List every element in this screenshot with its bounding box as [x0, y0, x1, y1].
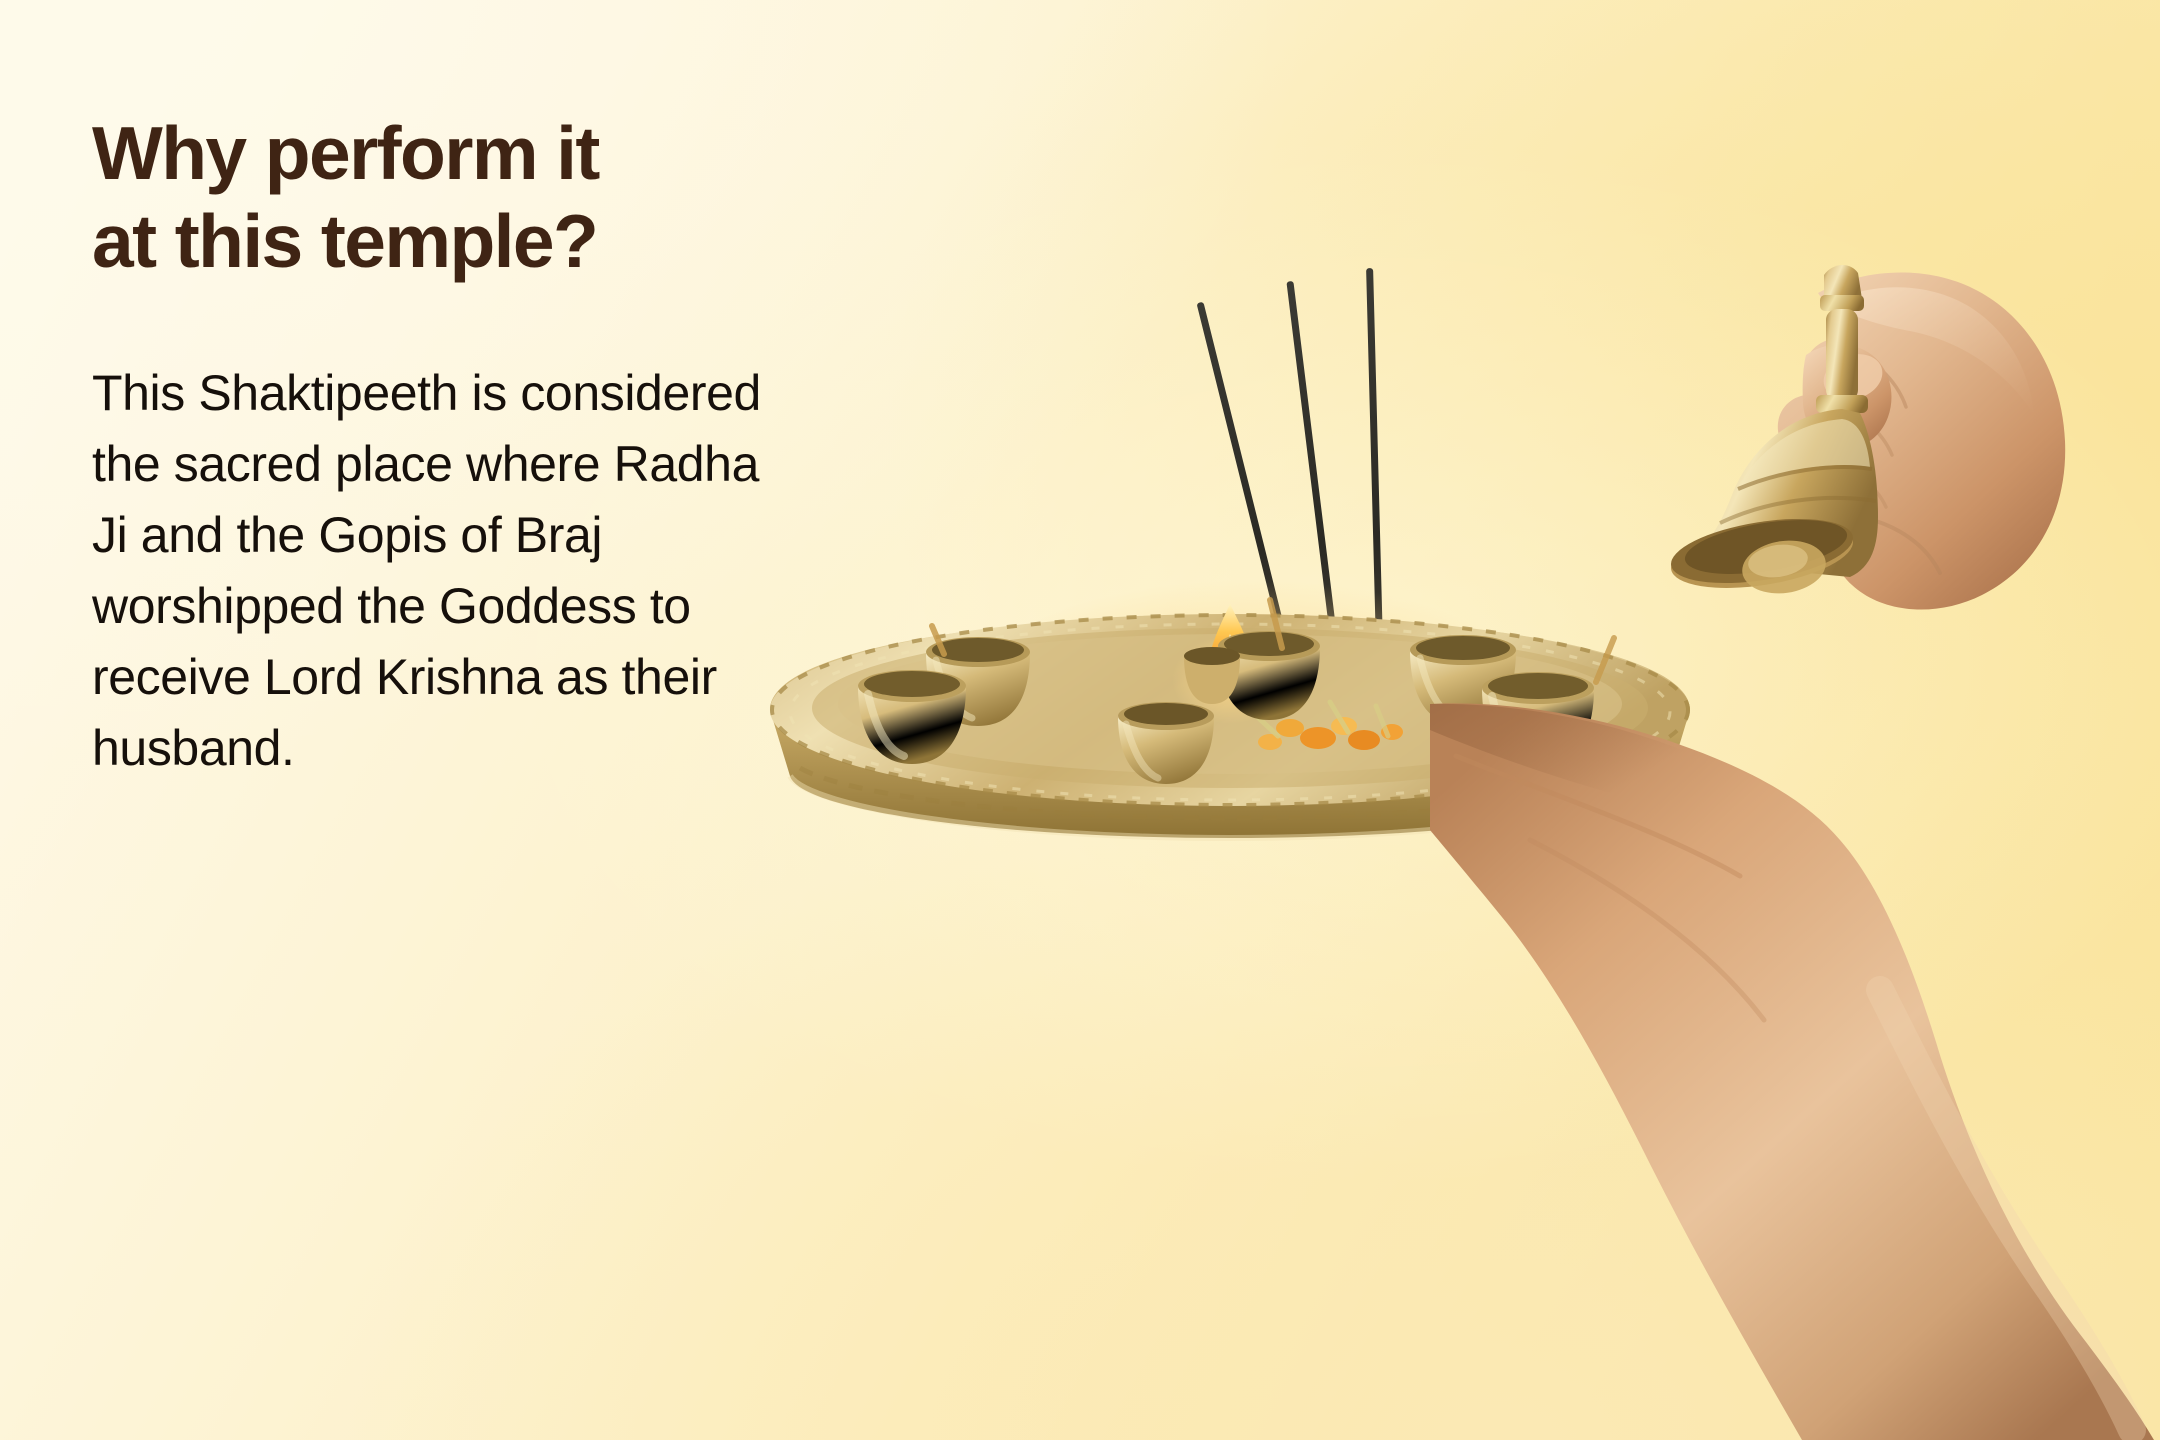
body-paragraph: This Shaktipeeth is considered the sacre…: [92, 358, 792, 784]
photo-alt-text: A hand holding a brass puja thali with o…: [1040, 0, 1041, 1]
page-title: Why perform it at this temple?: [92, 110, 792, 286]
text-column: Why perform it at this temple? This Shak…: [92, 110, 792, 784]
slide-canvas: Why perform it at this temple? This Shak…: [0, 0, 2160, 1440]
hand-holding-thali: [1410, 690, 2160, 1440]
puja-photograph: A hand holding a brass puja thali with o…: [1040, 0, 2160, 1440]
